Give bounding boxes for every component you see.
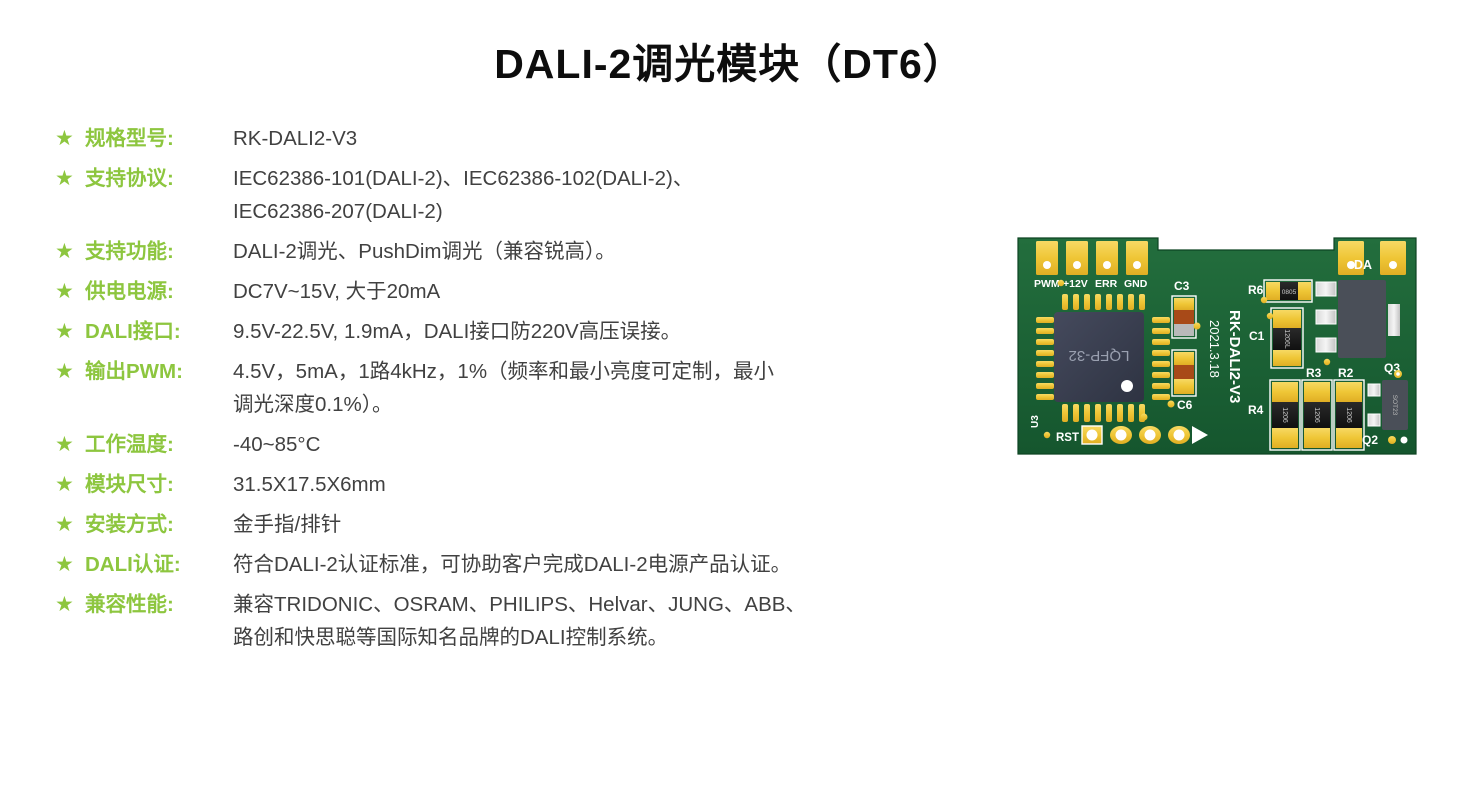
spec-value: 31.5X17.5X6mm bbox=[233, 468, 955, 501]
spec-value-line: 调光深度0.1%）。 bbox=[233, 388, 955, 421]
part-code-1206l: 1206L bbox=[1283, 329, 1290, 349]
designator-c6: C6 bbox=[1177, 398, 1193, 412]
spec-label: 供电电源: bbox=[85, 275, 233, 308]
spec-value-line: DC7V~15V, 大于20mA bbox=[233, 275, 955, 308]
spec-row-function: ★ 支持功能: DALI-2调光、PushDim调光（兼容锐高）。 bbox=[55, 235, 955, 268]
spec-value-line: DALI-2调光、PushDim调光（兼容锐高）。 bbox=[233, 235, 955, 268]
page-title: DALI-2调光模块（DT6） bbox=[0, 30, 1459, 90]
spec-value: RK-DALI2-V3 bbox=[233, 122, 955, 155]
spec-value: 金手指/排针 bbox=[233, 508, 955, 541]
spec-label: DALI接口: bbox=[85, 315, 233, 348]
pad-label-rst: RST bbox=[1056, 432, 1079, 444]
star-icon: ★ bbox=[55, 548, 85, 581]
designator-r4: R4 bbox=[1248, 403, 1264, 417]
silkscreen-date-code: 2021.3.18 bbox=[1207, 320, 1222, 378]
part-code-1206: 1206 bbox=[1313, 407, 1320, 423]
via bbox=[1044, 432, 1050, 438]
part-code-0805: 0805 bbox=[1282, 289, 1297, 296]
star-icon: ★ bbox=[55, 468, 85, 501]
designator-c3: C3 bbox=[1174, 279, 1190, 293]
star-icon: ★ bbox=[55, 508, 85, 541]
pcb-capacitor-c6: C6 bbox=[1168, 350, 1197, 412]
designator-c1: C1 bbox=[1249, 329, 1265, 343]
star-icon: ★ bbox=[55, 428, 85, 461]
spec-row-dimensions: ★ 模块尺寸: 31.5X17.5X6mm bbox=[55, 468, 955, 501]
spec-row-mounting: ★ 安装方式: 金手指/排针 bbox=[55, 508, 955, 541]
via bbox=[1141, 414, 1148, 421]
silkscreen-board-name: RK-DALI2-V3 bbox=[1226, 310, 1243, 403]
star-icon: ★ bbox=[55, 162, 85, 195]
designator-u3: U3 bbox=[1030, 415, 1041, 428]
star-icon: ★ bbox=[55, 235, 85, 268]
spec-value-line: IEC62386-101(DALI-2)、IEC62386-102(DALI-2… bbox=[233, 162, 955, 195]
spec-label: 规格型号: bbox=[85, 122, 233, 155]
spec-label: 支持功能: bbox=[85, 235, 233, 268]
spec-value-line: 9.5V-22.5V, 1.9mA，DALI接口防220V高压误接。 bbox=[233, 315, 955, 348]
star-icon: ★ bbox=[55, 355, 85, 388]
spec-value-line: 符合DALI-2认证标准，可协助客户完成DALI-2电源产品认证。 bbox=[233, 548, 955, 581]
via bbox=[1058, 280, 1064, 286]
spec-value: 9.5V-22.5V, 1.9mA，DALI接口防220V高压误接。 bbox=[233, 315, 955, 348]
spec-label: 安装方式: bbox=[85, 508, 233, 541]
spec-label: 输出PWM: bbox=[85, 355, 233, 388]
spec-value: 兼容TRIDONIC、OSRAM、PHILIPS、Helvar、JUNG、ABB… bbox=[233, 588, 955, 654]
spec-label: 支持协议: bbox=[85, 162, 233, 195]
spec-value-line: 4.5V，5mA，1路4kHz，1%（频率和最小亮度可定制，最小 bbox=[233, 355, 955, 388]
spec-value: -40~85°C bbox=[233, 428, 955, 461]
star-icon: ★ bbox=[55, 122, 85, 155]
spec-label: 兼容性能: bbox=[85, 588, 233, 621]
spec-value: IEC62386-101(DALI-2)、IEC62386-102(DALI-2… bbox=[233, 162, 955, 228]
star-icon: ★ bbox=[55, 588, 85, 621]
pin-label-pwm: PWM bbox=[1034, 278, 1060, 290]
star-icon: ★ bbox=[55, 275, 85, 308]
spec-label: DALI认证: bbox=[85, 548, 233, 581]
pin-label-12v: +12V bbox=[1063, 278, 1088, 290]
spec-value-line: 金手指/排针 bbox=[233, 508, 955, 541]
part-code-sot23: SOT23 bbox=[1391, 395, 1398, 416]
chip-marking-lqfp32: LQFP-32 bbox=[1069, 347, 1130, 364]
specification-list: ★ 规格型号: RK-DALI2-V3 ★ 支持协议: IEC62386-101… bbox=[55, 122, 955, 661]
part-code-1206: 1206 bbox=[1281, 407, 1288, 423]
star-icon: ★ bbox=[55, 315, 85, 348]
designator-r6: R6 bbox=[1248, 283, 1264, 297]
spec-row-dali-interface: ★ DALI接口: 9.5V-22.5V, 1.9mA，DALI接口防220V高… bbox=[55, 315, 955, 348]
spec-value: DALI-2调光、PushDim调光（兼容锐高）。 bbox=[233, 235, 955, 268]
spec-row-temperature: ★ 工作温度: -40~85°C bbox=[55, 428, 955, 461]
spec-value-line: RK-DALI2-V3 bbox=[233, 122, 955, 155]
spec-row-power-supply: ★ 供电电源: DC7V~15V, 大于20mA bbox=[55, 275, 955, 308]
spec-row-certification: ★ DALI认证: 符合DALI-2认证标准，可协助客户完成DALI-2电源产品… bbox=[55, 548, 955, 581]
spec-row-protocol: ★ 支持协议: IEC62386-101(DALI-2)、IEC62386-10… bbox=[55, 162, 955, 228]
spec-value-line: IEC62386-207(DALI-2) bbox=[233, 195, 955, 228]
designator-r2: R2 bbox=[1338, 366, 1354, 380]
spec-label: 模块尺寸: bbox=[85, 468, 233, 501]
spec-value: 4.5V，5mA，1路4kHz，1%（频率和最小亮度可定制，最小 调光深度0.1… bbox=[233, 355, 955, 421]
designator-r3: R3 bbox=[1306, 366, 1322, 380]
spec-value-line: 31.5X17.5X6mm bbox=[233, 468, 955, 501]
pin-label-err: ERR bbox=[1095, 278, 1118, 290]
spec-value-line: 路创和快思聪等国际知名品牌的DALI控制系统。 bbox=[233, 621, 955, 654]
spec-label: 工作温度: bbox=[85, 428, 233, 461]
spec-value-line: 兼容TRIDONIC、OSRAM、PHILIPS、Helvar、JUNG、ABB… bbox=[233, 588, 955, 621]
spec-value: DC7V~15V, 大于20mA bbox=[233, 275, 955, 308]
spec-row-pwm-output: ★ 输出PWM: 4.5V，5mA，1路4kHz，1%（频率和最小亮度可定制，最… bbox=[55, 355, 955, 421]
spec-value: 符合DALI-2认证标准，可协助客户完成DALI-2电源产品认证。 bbox=[233, 548, 955, 581]
pad-label-da: DA bbox=[1354, 258, 1372, 272]
pin-label-gnd: GND bbox=[1124, 278, 1148, 290]
designator-q2: Q2 bbox=[1362, 433, 1378, 447]
spec-row-compatibility: ★ 兼容性能: 兼容TRIDONIC、OSRAM、PHILIPS、Helvar、… bbox=[55, 588, 955, 654]
spec-row-model: ★ 规格型号: RK-DALI2-V3 bbox=[55, 122, 955, 155]
part-code-1206: 1206 bbox=[1345, 407, 1352, 423]
spec-value-line: -40~85°C bbox=[233, 428, 955, 461]
pcb-board-image: PWM +12V ERR GND DA bbox=[1016, 232, 1418, 462]
